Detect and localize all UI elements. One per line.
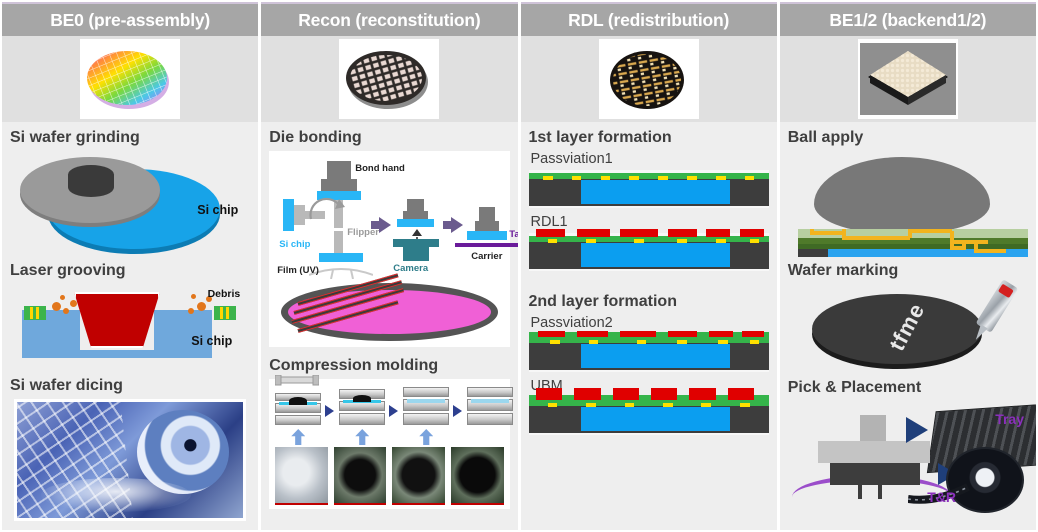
placed-chip — [467, 231, 507, 240]
photo-cell-be0 — [2, 36, 258, 122]
rdl-wafer-photo — [599, 39, 699, 119]
rdl-trace — [620, 331, 656, 337]
label-debris: Debris — [208, 288, 241, 300]
rdl-trace — [577, 331, 608, 337]
laser-indicator — [998, 284, 1014, 299]
via-opening — [586, 239, 596, 243]
passivation-layer — [529, 337, 769, 343]
via-opening — [586, 403, 596, 407]
die-layer — [581, 344, 730, 368]
bond-hand-shoulder — [321, 179, 357, 191]
via-opening — [663, 403, 673, 407]
package-lead — [858, 485, 862, 499]
rdl-trace — [536, 229, 565, 237]
via-opening — [740, 403, 750, 407]
via-opening — [718, 340, 728, 344]
cross-section-passivation1 — [529, 170, 769, 208]
mold-flow-arrow-3-icon — [453, 405, 462, 417]
label-si-chip-bonding: Si chip — [279, 239, 310, 250]
step-title-ball-apply: Ball apply — [788, 129, 1030, 147]
column-be0: Si wafer grinding Si chip Laser grooving — [2, 122, 258, 530]
metal-pad-right — [214, 306, 236, 320]
sub-title-passivation-1: Passviation1 — [531, 151, 771, 167]
mold-flow-arrow-2-icon — [389, 405, 398, 417]
via-opening — [625, 403, 635, 407]
process-body-row: Si wafer grinding Si chip Laser grooving — [0, 122, 1038, 532]
via-opening — [601, 176, 611, 180]
via-opening — [745, 176, 755, 180]
rdl-trace — [706, 229, 730, 237]
rdl-trace — [709, 331, 733, 337]
column-header-rdl: RDL (redistribution) — [521, 2, 777, 36]
reconstituted-pink-wafer — [281, 283, 497, 341]
step-title-wafer-marking: Wafer marking — [788, 262, 1030, 280]
via-opening — [701, 403, 711, 407]
debris-dot — [63, 308, 69, 314]
bond-hand-body — [327, 161, 351, 179]
label-film-uv: Film (UV) — [277, 265, 319, 276]
tray-arrow-icon — [906, 417, 928, 443]
ubm-pad — [574, 388, 600, 400]
ubm-pad — [613, 388, 639, 400]
step-title-compression-molding: Compression molding — [269, 357, 511, 375]
label-carrier: Carrier — [471, 251, 502, 262]
label-tray: Tray — [995, 411, 1024, 427]
step-title-2nd-layer-formation: 2nd layer formation — [529, 293, 771, 311]
column-recon: Die bonding — [261, 122, 517, 530]
step-title-si-wafer-grinding: Si wafer grinding — [10, 129, 252, 147]
mold-up-arrow-3-icon — [419, 429, 433, 445]
mold-step-1 — [275, 393, 321, 427]
ubm-pad — [689, 388, 715, 400]
solder-ball-shape — [814, 157, 990, 233]
molded-wafer-photo-2 — [392, 447, 445, 505]
camera-lens — [393, 239, 439, 247]
compression-molding-diagram — [269, 379, 509, 509]
die-layer — [581, 180, 730, 204]
die-bonding-diagram: Bond hand Flipper Si chip Film (UV) — [269, 151, 509, 347]
via-opening — [750, 239, 760, 243]
via-opening — [543, 176, 553, 180]
die-layer — [581, 243, 730, 267]
flow-arrow-1-tail — [371, 221, 380, 229]
cross-section-ubm — [529, 397, 769, 435]
mold-step-2 — [339, 393, 385, 427]
mold-step-4 — [467, 393, 513, 427]
molded-wafer-photo-3 — [451, 447, 504, 505]
flipper-pivot — [293, 205, 305, 225]
molding-photo-strip — [275, 447, 503, 505]
photo-cell-rdl — [521, 36, 777, 122]
molded-wafer-photo-1 — [334, 447, 387, 505]
mid-head-top — [407, 199, 424, 211]
process-flow-board: BE0 (pre-assembly) Recon (reconstitution… — [0, 0, 1038, 532]
column-header-be0: BE0 (pre-assembly) — [2, 2, 258, 36]
via-opening — [677, 340, 687, 344]
column-header-recon: Recon (reconstitution) — [261, 2, 517, 36]
mold-up-arrow-2-icon — [355, 429, 369, 445]
grinding-diagram: Si chip — [8, 151, 252, 259]
sub-title-rdl-1: RDL1 — [531, 214, 771, 230]
step-title-si-wafer-dicing: Si wafer dicing — [10, 377, 252, 395]
mid-head-chip — [397, 219, 434, 227]
label-si-chip-grooving: Si chip — [191, 334, 232, 348]
column-rdl: 1st layer formation Passviation1 RDL1 — [521, 122, 777, 530]
passivation-layer — [529, 400, 769, 406]
rotation-arrow-icon — [309, 195, 345, 221]
step-title-die-bonding: Die bonding — [269, 129, 511, 147]
via-opening — [572, 176, 582, 180]
package-lead — [878, 485, 882, 499]
step-title-laser-grooving: Laser grooving — [10, 262, 252, 280]
via-opening — [750, 340, 760, 344]
rdl-trace — [577, 229, 611, 237]
debris-dot — [52, 302, 61, 311]
rdl-trace — [742, 331, 764, 337]
debris-dot — [60, 295, 65, 300]
laser-marker-icon — [976, 279, 1019, 333]
molding-machine-photo — [275, 447, 328, 505]
step-title-pick-and-placement: Pick & Placement — [788, 379, 1030, 397]
via-opening — [637, 340, 647, 344]
mold-open-top-plate — [275, 375, 319, 387]
via-opening — [548, 403, 558, 407]
mold-up-arrow-1-icon — [291, 429, 305, 445]
photo-cell-be12 — [780, 36, 1036, 122]
debris-dot — [191, 294, 196, 299]
dicing-blade-photo — [14, 399, 246, 521]
die-layer — [581, 407, 730, 431]
ubm-pad — [651, 388, 677, 400]
mold-step-3 — [403, 393, 449, 427]
rdl-trace — [620, 229, 658, 237]
ubm-pad — [536, 388, 562, 400]
bga-package-photo — [858, 39, 958, 119]
pick-head-stem — [860, 415, 886, 441]
via-opening — [634, 239, 644, 243]
tape-layer — [455, 243, 517, 247]
via-opening — [687, 176, 697, 180]
wafer-marking-diagram: tfme — [786, 284, 1030, 376]
metal-pad-left — [24, 306, 46, 320]
label-bond-hand: Bond hand — [355, 163, 405, 174]
grinding-hub-shape — [68, 165, 114, 197]
debris-dot — [70, 300, 77, 307]
via-opening — [658, 176, 668, 180]
reconstituted-wafer-photo — [339, 39, 439, 119]
flow-arrow-1-icon — [379, 217, 391, 233]
via-opening — [589, 340, 599, 344]
si-chip-on-flipper — [283, 199, 294, 231]
place-head-top — [479, 207, 495, 221]
via-opening — [716, 176, 726, 180]
rdl-trace — [668, 229, 697, 237]
step-title-1st-layer-formation: 1st layer formation — [529, 129, 771, 147]
column-header-row: BE0 (pre-assembly) Recon (reconstitution… — [0, 0, 1038, 36]
colored-silicon-wafer-photo — [80, 39, 180, 119]
via-opening — [716, 239, 726, 243]
via-opening — [548, 239, 558, 243]
package-stack-layers — [792, 229, 1030, 259]
process-photo-row — [0, 36, 1038, 122]
rdl-trace — [538, 331, 564, 337]
flow-arrow-2-icon — [451, 217, 463, 233]
via-opening — [550, 340, 560, 344]
coolant-spray-shape — [41, 478, 191, 512]
flow-arrow-2-tail — [443, 221, 452, 229]
laser-grooving-diagram: Debris Si chip — [8, 284, 252, 374]
photo-cell-recon — [261, 36, 517, 122]
passivation-layer — [529, 173, 769, 179]
column-header-be12: BE1/2 (backend1/2) — [780, 2, 1036, 36]
place-head-body — [475, 221, 499, 231]
column-be12: Ball apply Wafer marking — [780, 122, 1036, 530]
label-tape: Tape — [509, 229, 517, 240]
cross-section-passivation2 — [529, 334, 769, 372]
rdl-trace — [740, 229, 764, 237]
picked-package — [830, 463, 920, 485]
via-opening — [677, 239, 687, 243]
pick-and-place-diagram: Tray T&R — [786, 401, 1030, 509]
label-si-chip-grinding: Si chip — [197, 203, 238, 217]
solder-ball-cross-section — [786, 151, 1030, 259]
rdl-trace — [668, 331, 697, 337]
camera-body — [403, 245, 429, 261]
mold-flow-arrow-1-icon — [325, 405, 334, 417]
sub-title-passivation-2: Passviation2 — [531, 315, 771, 331]
pick-head-bar — [818, 441, 930, 463]
ubm-pad — [728, 388, 754, 400]
label-camera: Camera — [393, 263, 428, 274]
via-opening — [629, 176, 639, 180]
label-tape-and-reel: T&R — [927, 489, 956, 505]
cross-section-rdl1 — [529, 233, 769, 271]
